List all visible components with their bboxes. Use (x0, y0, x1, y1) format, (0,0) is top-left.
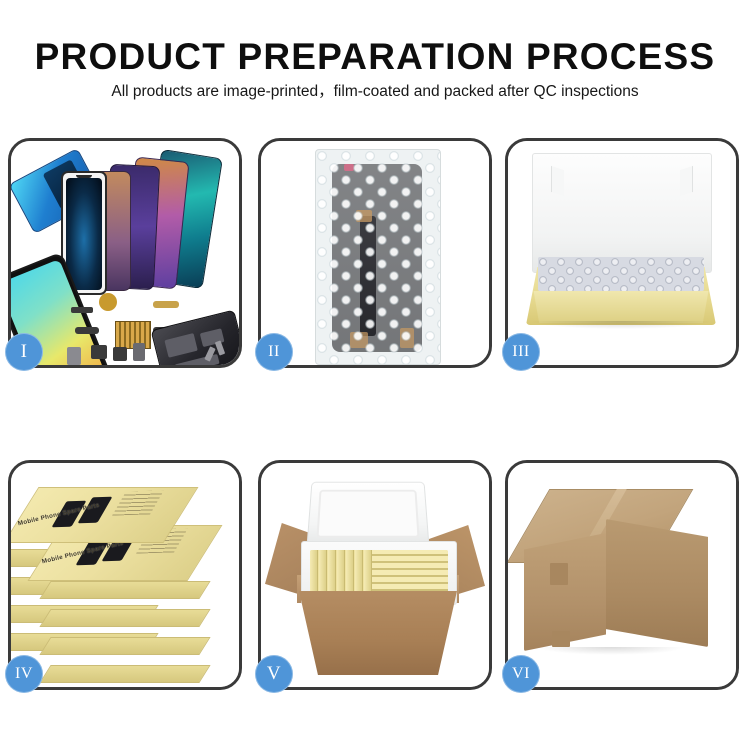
bubble-sheet-filler (538, 257, 704, 291)
step-badge-6: VI (502, 655, 540, 693)
box-shadow (532, 321, 710, 329)
motherboard (151, 310, 239, 365)
carton-hand-hole-bottom (552, 631, 570, 647)
part-connector (71, 307, 93, 313)
page-subtitle: All products are image-printed，film-coat… (0, 84, 750, 100)
bubble-texture (316, 150, 440, 364)
part-flex-cable-left (75, 327, 99, 334)
step-card-3[interactable]: III (505, 138, 739, 368)
step-image-1 (11, 141, 239, 365)
step-image-3 (508, 141, 736, 365)
product-preparation-process-infographic: PRODUCT PREPARATION PROCESS All products… (0, 0, 750, 750)
carton-hand-hole-top (550, 563, 568, 585)
step-card-6[interactable]: VI (505, 460, 739, 690)
phone-parts-scene (11, 141, 239, 365)
box-edge-e (39, 581, 210, 599)
step-badge-4: IV (5, 655, 43, 693)
carton-shadow (536, 647, 686, 655)
step-badge-1: I (5, 333, 43, 371)
step-image-5 (261, 463, 489, 687)
page-title: PRODUCT PREPARATION PROCESS (0, 38, 750, 75)
mailer-box-front-panel (528, 291, 714, 323)
part-battery-connector (133, 343, 145, 361)
step-badge-2: II (255, 333, 293, 371)
part-flex-cable-gold (153, 301, 179, 308)
step-card-1[interactable]: I (8, 138, 242, 368)
step-image-4: Mobile Phone Spare Parts Mobile Phone Sp… (11, 463, 239, 687)
step-badge-5: V (255, 655, 293, 693)
part-speaker (91, 345, 107, 359)
box-edge-f (39, 609, 210, 627)
step-image-2 (261, 141, 489, 365)
box-edge-g (39, 637, 210, 655)
step-card-5[interactable]: V (258, 460, 492, 690)
part-gold-coil (99, 293, 117, 311)
box-edge-h (39, 665, 210, 683)
step-card-2[interactable]: II (258, 138, 492, 368)
bubble-wrap-package (315, 149, 441, 365)
step-image-6 (508, 463, 736, 687)
retail-box-stack: Mobile Phone Spare Parts Mobile Phone Sp… (11, 463, 239, 687)
part-sim-tray (67, 347, 81, 365)
step-card-4[interactable]: Mobile Phone Spare Parts Mobile Phone Sp… (8, 460, 242, 690)
part-camera (113, 347, 127, 361)
carton-side-panel-right (606, 519, 708, 647)
carton-front-panel (299, 591, 457, 675)
step-badge-3: III (502, 333, 540, 371)
foam-box-lid (306, 482, 429, 549)
packed-boxes-row (310, 550, 448, 596)
mailer-box-lid (532, 153, 712, 273)
